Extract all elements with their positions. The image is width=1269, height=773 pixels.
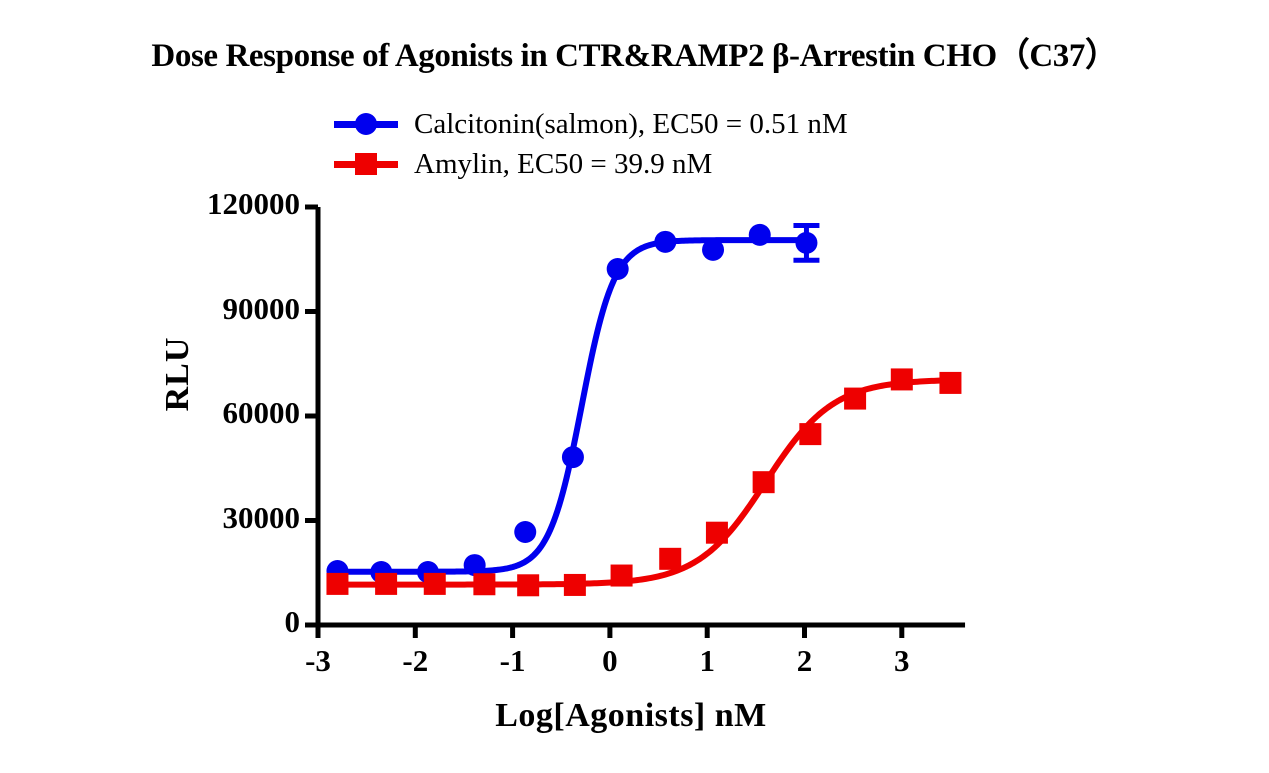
data-point-amylin[interactable] — [753, 471, 775, 493]
data-point-amylin[interactable] — [375, 573, 397, 595]
data-point-amylin[interactable] — [706, 522, 728, 544]
data-point-amylin[interactable] — [424, 573, 446, 595]
data-point-amylin[interactable] — [799, 423, 821, 445]
data-point-amylin[interactable] — [326, 573, 348, 595]
fit-curve-amylin — [337, 380, 950, 584]
data-point-calcitonin-salmon-[interactable] — [607, 258, 629, 280]
y-tick-label: 60000 — [68, 395, 300, 431]
data-point-calcitonin-salmon-[interactable] — [514, 521, 536, 543]
x-tick-label: -1 — [473, 643, 553, 679]
data-point-amylin[interactable] — [659, 548, 681, 570]
y-tick-label: 90000 — [68, 291, 300, 327]
y-tick-label: 0 — [68, 604, 300, 640]
y-tick-label: 120000 — [68, 186, 300, 222]
chart-figure: Dose Response of Agonists in CTR&RAMP2 β… — [0, 0, 1269, 773]
x-axis-title: Log[Agonists] nM — [315, 697, 947, 735]
x-tick-label: 2 — [765, 643, 845, 679]
data-point-calcitonin-salmon-[interactable] — [654, 231, 676, 253]
data-point-amylin[interactable] — [611, 565, 633, 587]
data-point-calcitonin-salmon-[interactable] — [464, 554, 486, 576]
x-tick-label: 1 — [667, 643, 747, 679]
x-tick-label: 0 — [570, 643, 650, 679]
data-point-calcitonin-salmon-[interactable] — [702, 239, 724, 261]
data-point-amylin[interactable] — [844, 388, 866, 410]
data-point-amylin[interactable] — [939, 372, 961, 394]
data-point-amylin[interactable] — [891, 368, 913, 390]
data-point-calcitonin-salmon-[interactable] — [795, 232, 817, 254]
x-tick-label: -2 — [375, 643, 455, 679]
y-tick-label: 30000 — [68, 500, 300, 536]
data-point-amylin[interactable] — [517, 574, 539, 596]
data-point-calcitonin-salmon-[interactable] — [562, 446, 584, 468]
x-tick-label: 3 — [862, 643, 942, 679]
data-point-calcitonin-salmon-[interactable] — [749, 224, 771, 246]
data-point-amylin[interactable] — [564, 574, 586, 596]
data-point-amylin[interactable] — [473, 573, 495, 595]
x-tick-label: -3 — [278, 643, 358, 679]
